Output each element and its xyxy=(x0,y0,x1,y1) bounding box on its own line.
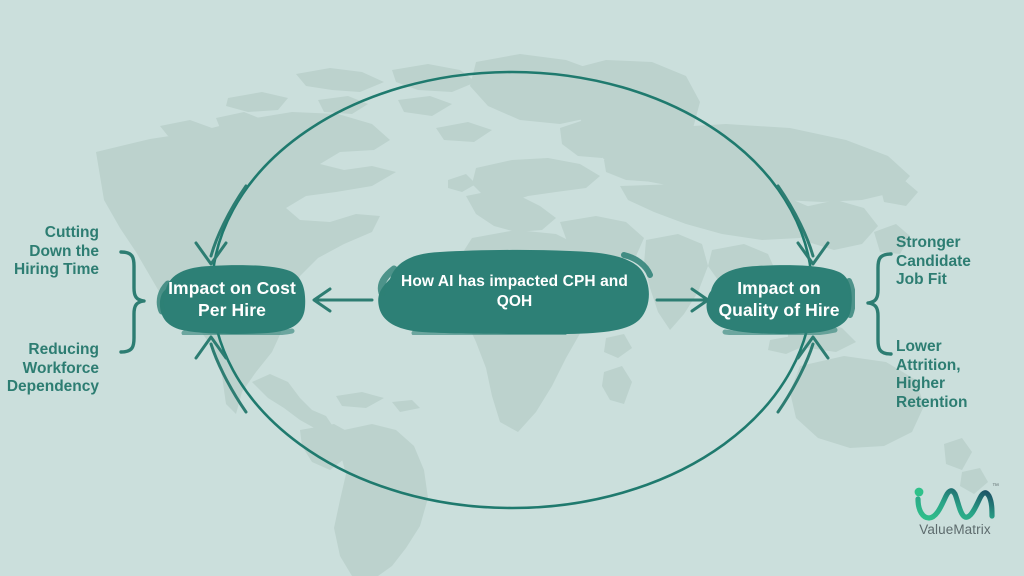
logo-wave-icon xyxy=(918,491,992,518)
trademark-symbol: ™ xyxy=(992,483,999,490)
diagram-canvas: How AI has impacted CPH and QOH Impact o… xyxy=(0,0,1024,576)
brand-name: ValueMatrix xyxy=(900,522,1010,537)
brand-logo[interactable]: ™ ValueMatrix xyxy=(900,482,1010,544)
brand-layer: ™ ValueMatrix xyxy=(0,0,1024,576)
logo-dot-icon xyxy=(915,488,924,497)
